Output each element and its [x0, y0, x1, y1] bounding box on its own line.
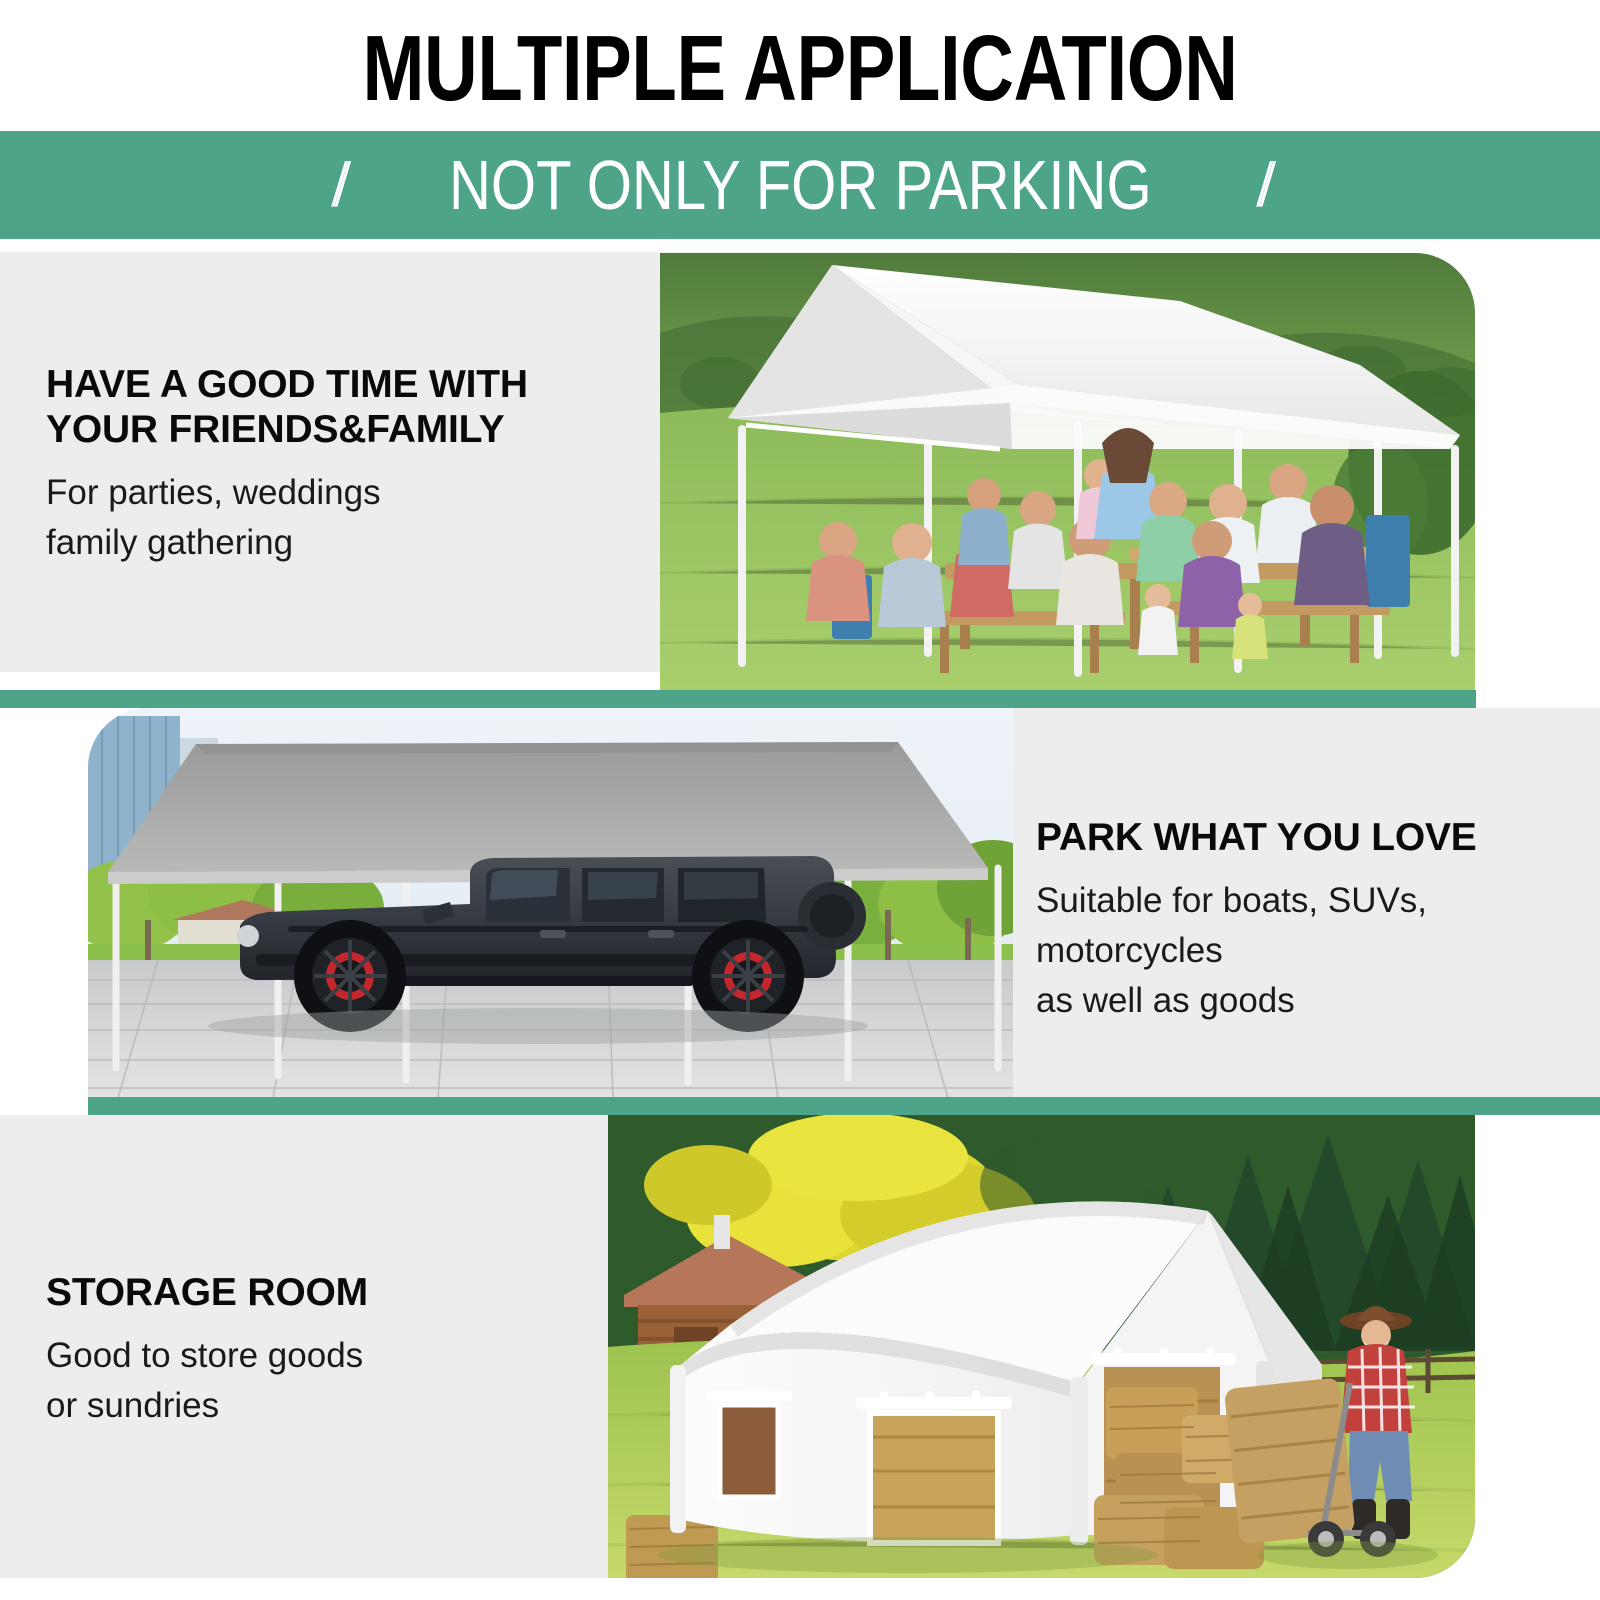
section-2-text-block: PARK WHAT YOU LOVE Suitable for boats, S… [1036, 815, 1586, 1025]
section-3-text-block: STORAGE ROOM Good to store goods or sund… [46, 1270, 606, 1431]
subtitle-banner: // NOT ONLY FOR PARKING // [0, 131, 1600, 239]
section-1-body: For parties, weddings family gathering [46, 468, 646, 567]
infographic-page: MULTIPLE APPLICATION // NOT ONLY FOR PAR… [0, 0, 1600, 1600]
section-1-text-block: HAVE A GOOD TIME WITH YOUR FRIENDS&FAMIL… [46, 362, 646, 568]
section-2-divider [88, 1097, 1600, 1115]
slash-right-icon: // [1255, 150, 1271, 221]
section-1-image [660, 253, 1475, 690]
section-3-body: Good to store goods or sundries [46, 1331, 606, 1430]
section-2-heading: PARK WHAT YOU LOVE [1036, 815, 1586, 860]
section-1-divider [0, 690, 1476, 708]
section-3-heading: STORAGE ROOM [46, 1270, 606, 1315]
page-title: MULTIPLE APPLICATION [160, 6, 1440, 130]
section-3-image [608, 1115, 1475, 1578]
section-1-heading: HAVE A GOOD TIME WITH YOUR FRIENDS&FAMIL… [46, 362, 646, 452]
section-2-image [88, 708, 1013, 1098]
section-2-body: Suitable for boats, SUVs, motorcycles as… [1036, 876, 1586, 1025]
slash-left-icon: // [330, 150, 346, 221]
subtitle-text: NOT ONLY FOR PARKING [449, 145, 1152, 225]
